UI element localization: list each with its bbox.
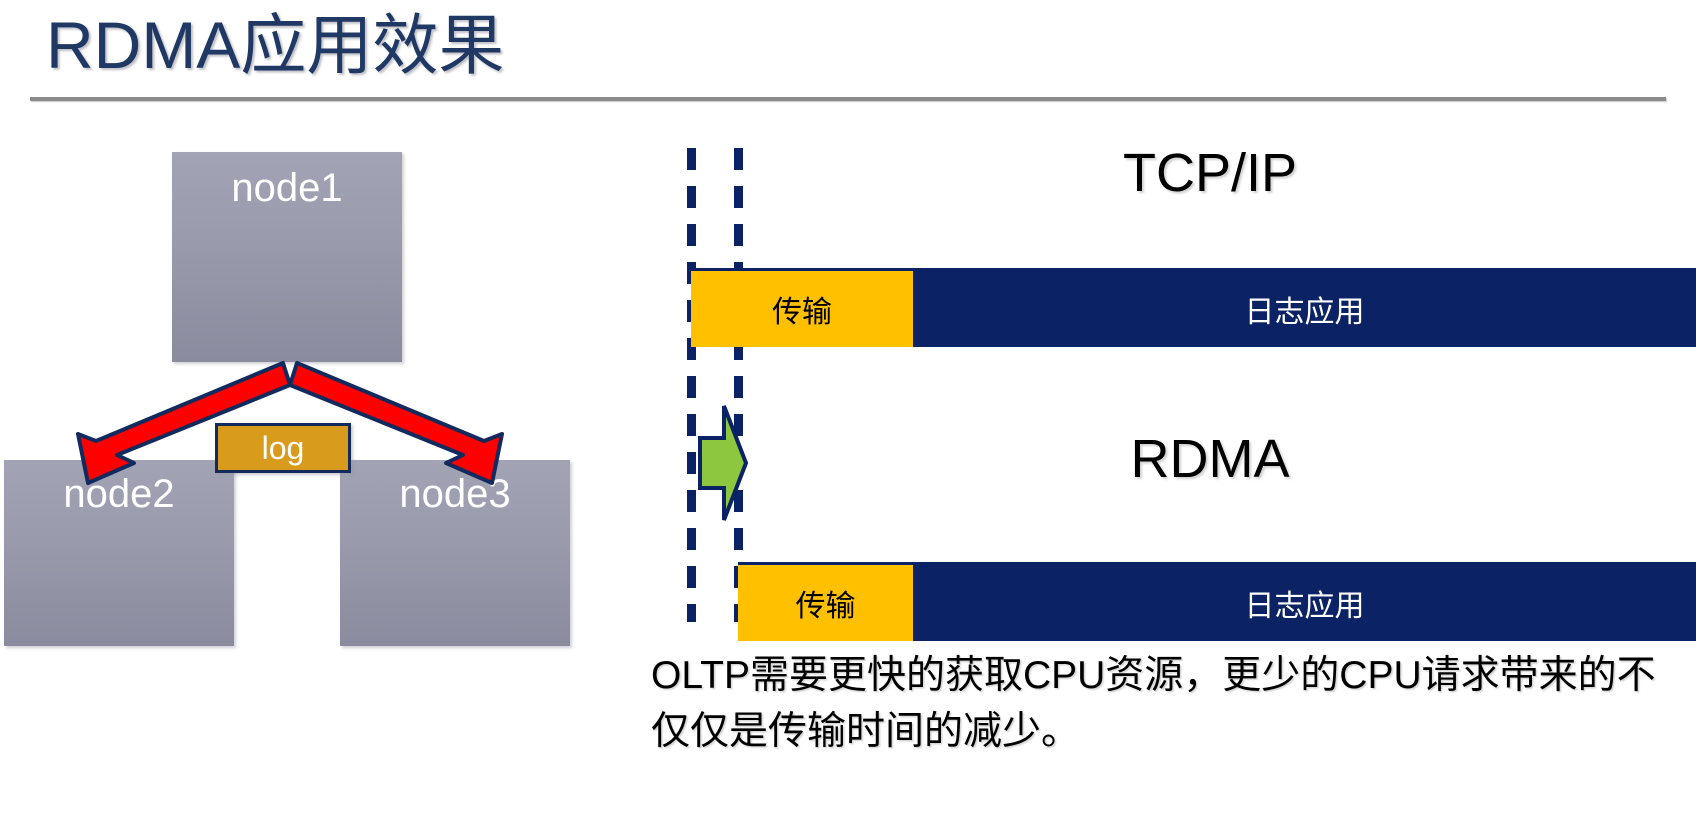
node-box-node1: node1 [172,152,402,362]
slide-canvas: RDMA应用效果 node1 node2 node3 log TCP/IP RD… [0,0,1696,826]
timeline-bar-rdma: 传输 日志应用 [738,562,1696,641]
timeline-bar-tcpip: 传输 日志应用 [691,268,1696,347]
dashed-guide-line-start [687,148,696,622]
caption-text: OLTP需要更快的获取CPU资源，更少的CPU请求带来的不仅仅是传输时间的减少。 [651,648,1681,760]
log-box: log [215,423,351,473]
log-box-label: log [262,430,305,466]
section-label-rdma: RDMA [900,428,1520,490]
green-arrow-icon [696,404,748,522]
segment-transfer-rdma: 传输 [738,565,913,641]
segment-log-app-tcpip: 日志应用 [913,271,1696,347]
segment-transfer-tcpip: 传输 [691,271,913,347]
title-divider [30,97,1666,101]
node-label-node1: node1 [172,152,402,211]
section-label-tcpip: TCP/IP [900,142,1520,204]
page-title: RDMA应用效果 [46,6,504,84]
dashed-guide-line-rdma-start [734,148,743,622]
segment-log-app-rdma: 日志应用 [913,565,1696,641]
